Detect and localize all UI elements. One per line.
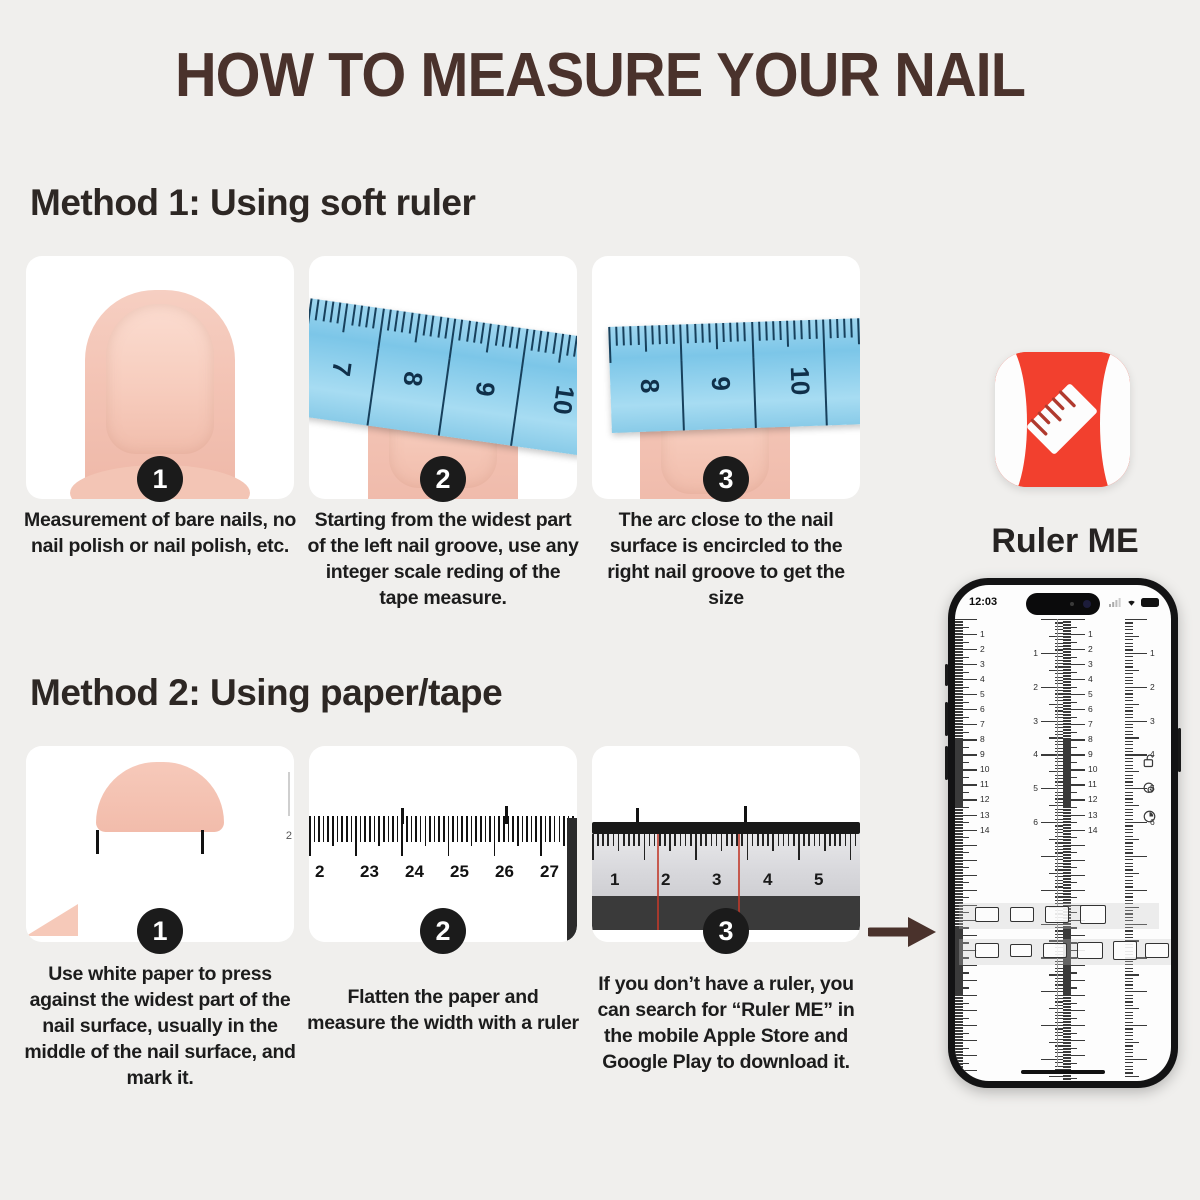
center-cm-ruler: 1234567891011121314 [1063, 619, 1121, 1067]
method-2-heading: Method 2: Using paper/tape [30, 672, 502, 714]
step-badge: 3 [703, 908, 749, 954]
phone-silent-switch[interactable] [945, 664, 948, 686]
method-2-step-1-caption: Use white paper to press against the wid… [24, 962, 296, 1092]
step-badge: 2 [420, 456, 466, 502]
cellular-icon [1109, 597, 1122, 607]
app-name-label: Ruler ME [960, 522, 1170, 561]
method-1-step-3-caption: The arc close to the nail surface is enc… [590, 508, 862, 612]
phone-mockup: 12:03 1234567891011121314 123456 1234567… [948, 578, 1178, 1088]
method-2-step-3-caption: If you don’t have a ruler, you can searc… [590, 972, 862, 1076]
phone-power-button[interactable] [1178, 728, 1181, 772]
phone-volume-down-button[interactable] [945, 746, 948, 780]
status-bar: 12:03 [955, 593, 1171, 615]
ruler-app-icon[interactable] [995, 352, 1130, 487]
method-1-step-1-caption: Measurement of bare nails, no nail polis… [24, 508, 296, 560]
nail-size-chart-overlay [965, 903, 1161, 973]
unlock-icon[interactable] [1142, 753, 1157, 768]
step-badge: 2 [420, 908, 466, 954]
phone-screen[interactable]: 12:03 1234567891011121314 123456 1234567… [955, 585, 1171, 1081]
phone-volume-up-button[interactable] [945, 702, 948, 736]
camera-icon[interactable] [1142, 781, 1157, 796]
right-arrow-icon [868, 915, 940, 954]
method-1-heading: Method 1: Using soft ruler [30, 182, 475, 224]
wifi-icon [1125, 597, 1138, 607]
timer-icon[interactable] [1142, 809, 1157, 824]
step-badge: 3 [703, 456, 749, 502]
right-inch-ruler: 123456 [1125, 619, 1171, 1067]
step-badge: 1 [137, 908, 183, 954]
battery-icon [1141, 598, 1159, 607]
page-title: HOW TO MEASURE YOUR NAIL [42, 40, 1158, 111]
step-badge: 1 [137, 456, 183, 502]
home-indicator[interactable] [1021, 1070, 1105, 1074]
status-time: 12:03 [969, 596, 997, 608]
method-1-step-2-caption: Starting from the widest part of the lef… [307, 508, 579, 612]
left-cm-ruler: 1234567891011121314 [955, 619, 1013, 1067]
method-2-step-2-caption: Flatten the paper and measure the width … [307, 985, 579, 1037]
